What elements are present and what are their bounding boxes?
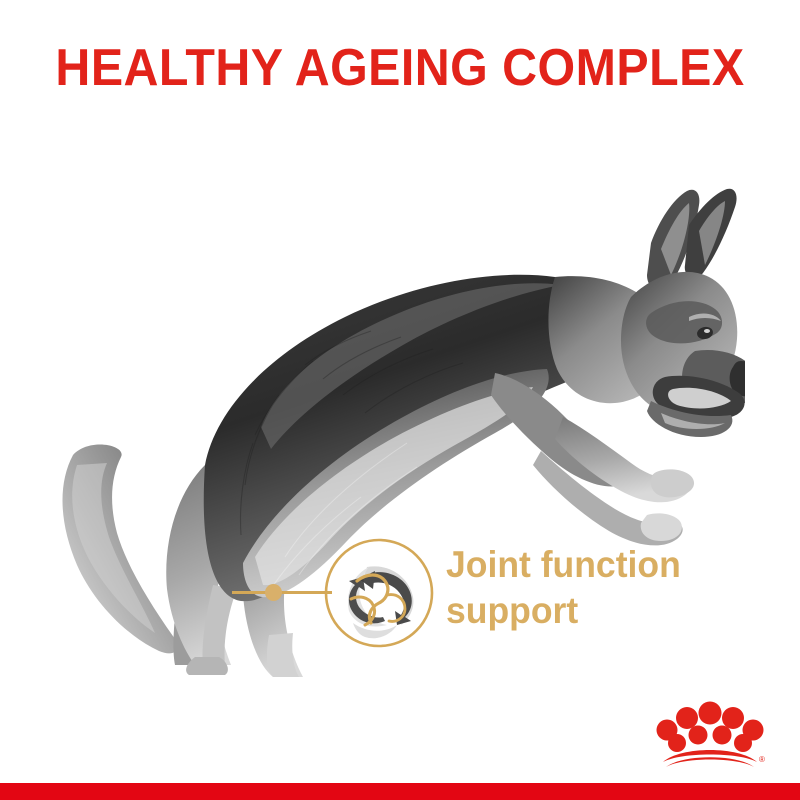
connector-dot-icon (265, 584, 282, 601)
benefit-callout: Joint function support (232, 530, 702, 655)
royal-canin-crown-logo: ® (655, 700, 765, 772)
registered-mark: ® (759, 755, 765, 764)
footer-red-bar (0, 783, 800, 800)
joint-rotation-arrows-icon (323, 537, 435, 649)
benefit-label-line-1: Joint function (446, 542, 692, 588)
page-title: HEALTHY AGEING COMPLEX (28, 38, 772, 98)
connector-line (232, 591, 332, 594)
benefit-label-line-2: support (446, 588, 692, 634)
product-feature-panel: HEALTHY AGEING COMPLEX (0, 0, 800, 800)
benefit-label: Joint function support (446, 542, 692, 634)
